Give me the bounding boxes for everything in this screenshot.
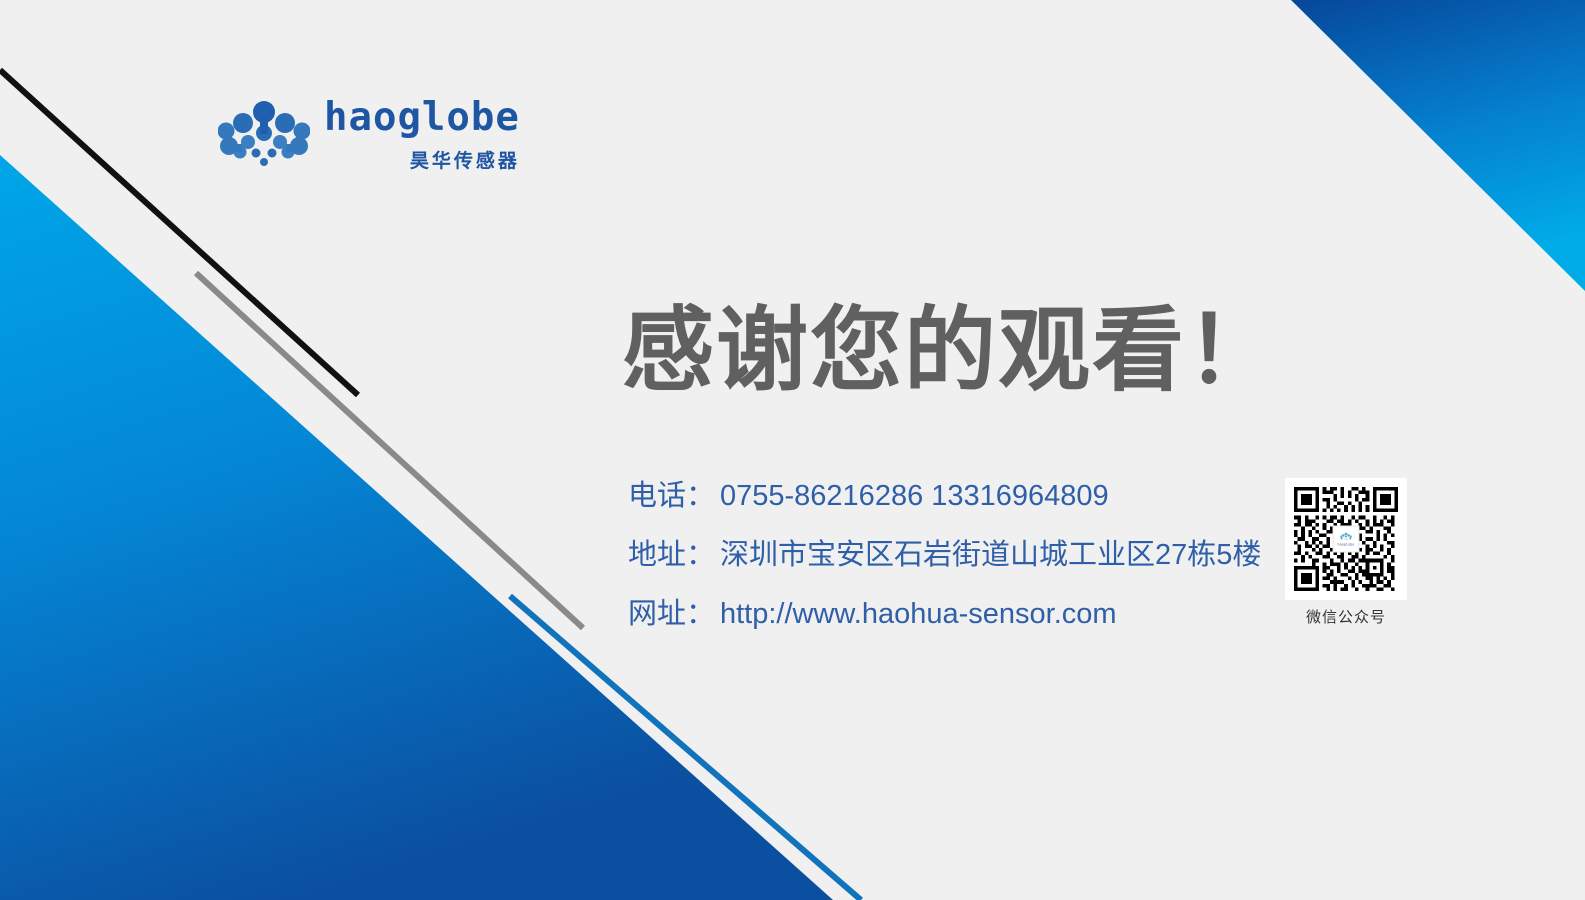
phone-label: 电话：	[628, 482, 720, 511]
qr-center-brand-logo: haoglobe	[1333, 526, 1360, 553]
contact-row-address: 地址： 深圳市宝安区石岩街道山城工业区27栋5楼	[628, 541, 1261, 570]
website-link[interactable]: http://www.haohua-sensor.com	[720, 600, 1117, 629]
wechat-qr-block: haoglobe 微信公众号	[1285, 478, 1407, 627]
corner-gradient-triangle	[1291, 0, 1585, 291]
haoglobe-dot-cluster-icon	[1340, 532, 1353, 541]
logo-subtitle: 昊华传感器	[410, 146, 520, 173]
logo-text-group: haoglobe 昊华传感器	[324, 98, 520, 173]
website-label: 网址：	[628, 600, 720, 629]
qr-center-logo-text: haoglobe	[1338, 542, 1355, 546]
page-title: 感谢您的观看！	[622, 300, 1280, 403]
contact-info-block: 电话： 0755-86216286 13316964809 地址： 深圳市宝安区…	[628, 482, 1261, 659]
qr-caption: 微信公众号	[1306, 606, 1386, 627]
address-label: 地址：	[628, 541, 720, 570]
thank-you-slide: haoglobe 昊华传感器 感谢您的观看！ 电话： 0755-86216286…	[0, 0, 1585, 900]
phone-value: 0755-86216286 13316964809	[720, 482, 1109, 511]
logo-wordmark: haoglobe	[324, 98, 520, 137]
address-value: 深圳市宝安区石岩街道山城工业区27栋5楼	[720, 541, 1261, 570]
haoglobe-dot-cluster-icon	[218, 100, 310, 172]
contact-row-website: 网址： http://www.haohua-sensor.com	[628, 600, 1261, 629]
brand-logo: haoglobe 昊华传感器	[218, 98, 520, 173]
contact-row-phone: 电话： 0755-86216286 13316964809	[628, 482, 1261, 511]
qr-card[interactable]: haoglobe	[1285, 478, 1407, 600]
